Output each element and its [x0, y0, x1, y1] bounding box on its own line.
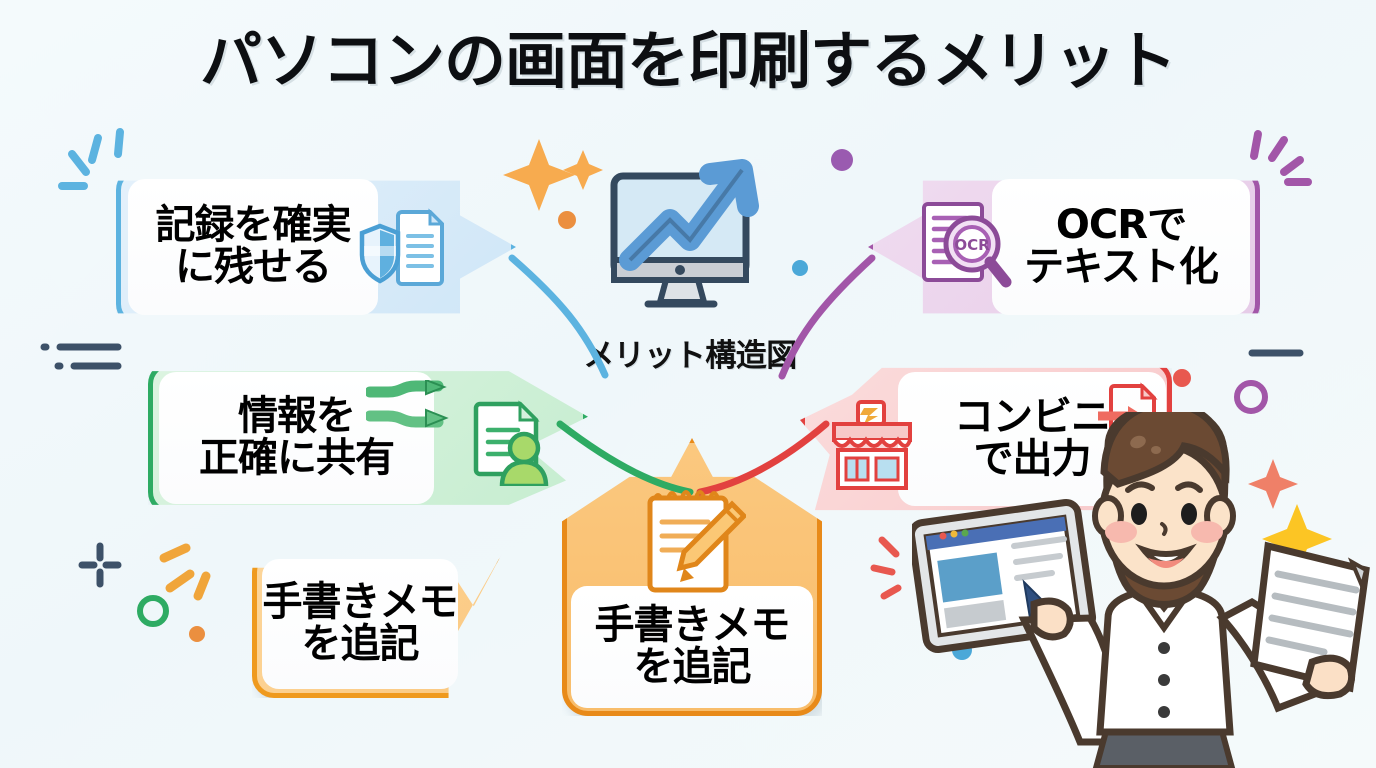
dash-lines-navy-icon: [44, 347, 118, 366]
button-2: [1158, 674, 1170, 686]
callout-label-text: 記録を確実 に残せる: [156, 205, 351, 288]
dot-purple-center-icon: [831, 149, 853, 171]
button-1: [1158, 642, 1170, 654]
hair-shine-2: [1151, 446, 1161, 454]
callout-label-plate: 手書きメモ を追記: [262, 559, 458, 689]
blush-right: [1191, 521, 1223, 543]
circle-outline-purple-icon: [1237, 383, 1265, 411]
document-person-icon: [468, 398, 554, 486]
button-3: [1158, 706, 1170, 718]
callout-box-record[interactable]: 記録を確実 に残せる: [116, 168, 516, 326]
notepad-pencil-icon: [638, 484, 746, 602]
shield-document-icon: [358, 202, 444, 292]
infographic-canvas: パソコンの画面を印刷するメリット: [0, 0, 1376, 768]
sparkle-rays-blue-icon: [62, 132, 120, 186]
shuffle-arrows-icon: [366, 380, 458, 432]
callout-label-text: 手書きメモ を追記: [595, 605, 790, 688]
callout-label-text: 情報を 正確に共有: [199, 396, 394, 479]
page-title: パソコンの画面を印刷するメリット: [0, 30, 1376, 92]
callout-label-text: OCRで テキスト化: [1024, 205, 1218, 288]
dot-red-icon: [1173, 369, 1191, 387]
dot-orange-center-icon: [558, 211, 576, 229]
monitor-growth-arrow-icon: [592, 148, 782, 320]
sparkle-rays-orange-icon: [164, 548, 206, 596]
right-hand: [1306, 658, 1352, 695]
callout-box-memo-center[interactable]: 手書きメモ を追記: [562, 438, 822, 716]
callout-box-share[interactable]: 情報を 正確に共有: [148, 362, 588, 514]
sparkle-rays-purple-icon: [1254, 134, 1308, 182]
svg-text:OCR: OCR: [954, 236, 990, 254]
convenience-store-icon: [828, 400, 916, 490]
dot-orange-icon: [189, 626, 205, 642]
dot-blue-center-icon: [792, 260, 808, 276]
callout-box-memo-left[interactable]: 手書きメモ を追記: [252, 550, 504, 698]
eye-right: [1181, 503, 1197, 525]
cross-marker-navy-icon: [82, 546, 118, 584]
circle-outline-green-icon: [140, 598, 166, 624]
callout-label-plate: 記録を確実 に残せる: [128, 179, 378, 315]
woman-holding-tablet-and-printout: [912, 412, 1376, 768]
sparkle-rays-red-icon: [874, 540, 898, 596]
callout-label-text: 手書きメモ を追記: [263, 582, 458, 665]
eye-left: [1131, 503, 1147, 525]
callout-label-plate: 手書きメモ を追記: [571, 586, 813, 708]
callout-box-ocr[interactable]: OCRで テキスト化 OCR: [868, 168, 1260, 326]
blush-left: [1105, 521, 1137, 543]
left-hand: [1034, 601, 1070, 637]
ocr-magnifier-document-icon: OCR: [920, 198, 1014, 294]
callout-label-plate: OCRで テキスト化: [992, 179, 1250, 315]
